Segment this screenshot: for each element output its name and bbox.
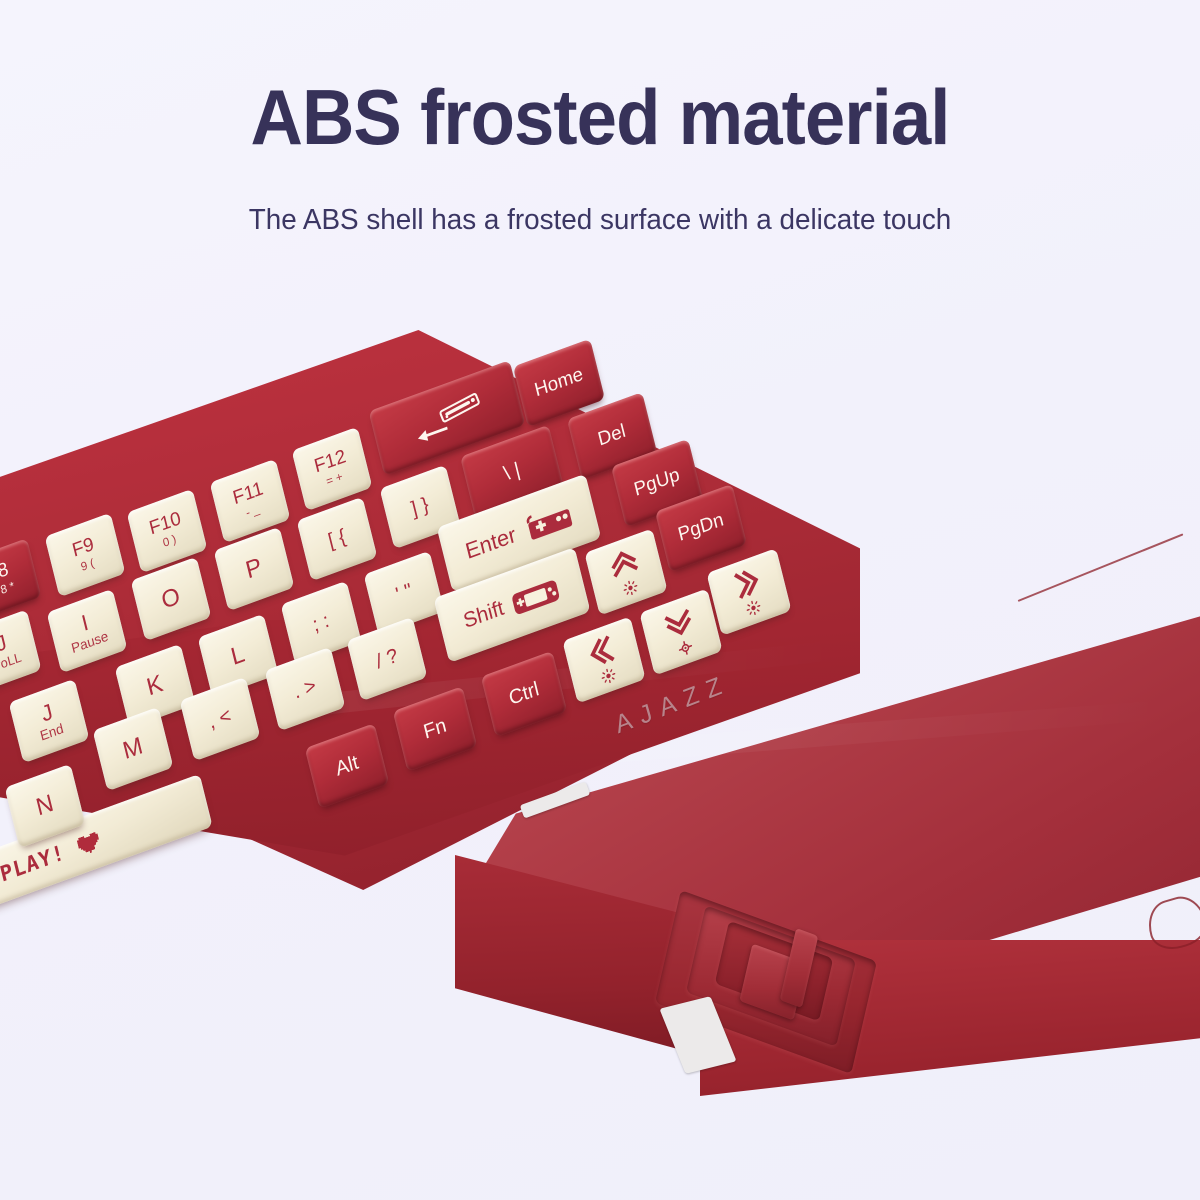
page-title: ABS frosted material xyxy=(42,78,1158,156)
gamepad-icon xyxy=(519,499,575,546)
key-sublabel: 8 * xyxy=(0,580,16,597)
key-label: 8 xyxy=(0,560,11,583)
key-label: J xyxy=(39,700,55,726)
key-label: J xyxy=(0,631,9,655)
key-label: , < xyxy=(207,705,233,733)
key-label: . > xyxy=(292,675,318,703)
key-label: [ { xyxy=(326,526,348,552)
key-label: Del xyxy=(596,422,628,451)
key-sublabel: Pause xyxy=(70,630,110,657)
product-marketing-image: ABS frosted material The ABS shell has a… xyxy=(0,0,1200,1200)
key-label: I xyxy=(79,611,90,635)
page-subtitle: The ABS shell has a frosted surface with… xyxy=(24,203,1176,238)
key-sublabel: End xyxy=(39,722,65,744)
key-sublabel: 0 ) xyxy=(162,533,178,549)
key-label: F11 xyxy=(231,479,265,509)
key-label: Home xyxy=(533,365,585,401)
key-label: N xyxy=(34,791,56,821)
handheld-console-icon xyxy=(507,573,563,620)
pixel-heart-icon xyxy=(75,830,101,857)
case-seam-line xyxy=(1018,533,1184,602)
key-label: K xyxy=(144,671,165,700)
key-label: / ? xyxy=(374,645,400,673)
chevron-down-icon xyxy=(661,603,696,643)
brightness-icon xyxy=(621,578,639,598)
key-label: L xyxy=(229,642,248,670)
spacebar-label: S PLAY! xyxy=(0,840,68,896)
key-label: ] } xyxy=(409,494,431,520)
key-label: PgDn xyxy=(676,510,725,545)
key-label: P xyxy=(243,554,264,583)
key-label: M xyxy=(121,734,146,765)
key-label: Enter xyxy=(463,523,518,563)
target-icon xyxy=(676,638,694,658)
chevron-up-icon xyxy=(606,543,641,583)
backspace-arrow-cartridge-icon xyxy=(408,390,487,445)
brightness-icon xyxy=(599,666,617,686)
key-label: O xyxy=(159,584,182,614)
key-label: Shift xyxy=(461,598,506,633)
brightness-icon xyxy=(744,598,762,618)
key-sublabel: croLL xyxy=(0,650,23,674)
chevron-left-icon xyxy=(584,631,619,671)
key-label: \ | xyxy=(502,459,522,484)
key-label: Alt xyxy=(334,752,361,780)
chevron-right-icon xyxy=(729,563,764,603)
key-sublabel: - _ xyxy=(245,503,261,519)
key-sublabel: 9 ( xyxy=(80,557,96,573)
key-label: Ctrl xyxy=(507,679,541,710)
key-label: ; : xyxy=(311,610,332,636)
key-label: Fn xyxy=(422,715,449,743)
key-label: ' " xyxy=(394,580,414,606)
key-label: PgUp xyxy=(632,465,681,500)
